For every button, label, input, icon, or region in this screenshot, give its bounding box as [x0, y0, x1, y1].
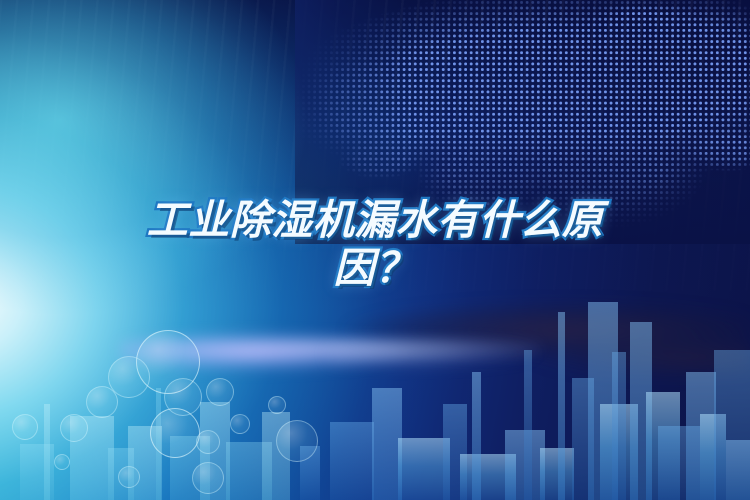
bubble-icon: [60, 414, 88, 442]
bubble-icon: [54, 454, 70, 470]
banner-image: 工业除湿机漏水有什么原 因？: [0, 0, 750, 500]
bubble-icon: [276, 420, 318, 462]
bubble-icon: [196, 430, 220, 454]
bubble-group: [0, 0, 750, 500]
bubble-icon: [230, 414, 250, 434]
bubble-icon: [192, 462, 224, 494]
bubble-icon: [118, 466, 140, 488]
bubble-icon: [268, 396, 286, 414]
bubble-icon: [206, 378, 234, 406]
bubble-icon: [86, 386, 118, 418]
bubble-icon: [150, 408, 200, 458]
bubble-icon: [12, 414, 38, 440]
